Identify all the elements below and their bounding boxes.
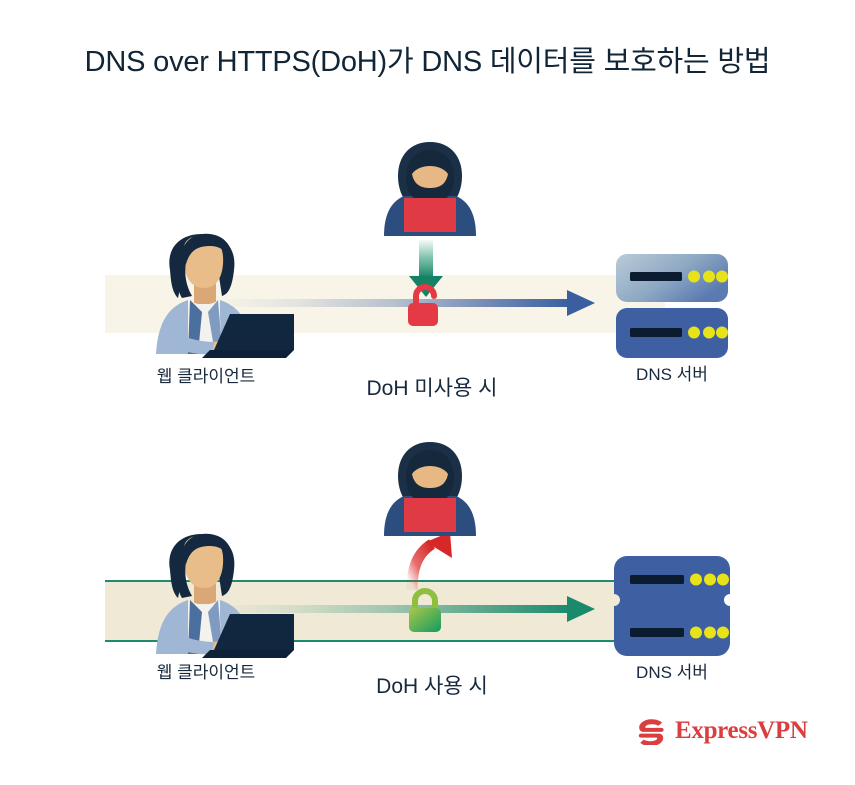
hacker-figure [382, 140, 478, 240]
arrow-head [567, 290, 595, 316]
label-scene-with-doh: DoH 사용 시 [282, 670, 582, 700]
label-scene-without-doh: DoH 미사용 시 [282, 372, 582, 402]
web-client-figure [118, 530, 294, 658]
unlocked-padlock-icon [404, 282, 446, 330]
scene-with-doh: 웹 클라이언트 DNS 서버 DoH 사용 시 [0, 430, 855, 710]
web-client-figure [118, 230, 294, 358]
hacker-figure [382, 440, 478, 540]
page-title: DNS over HTTPS(DoH)가 DNS 데이터를 보호하는 방법 [0, 38, 855, 80]
expressvpn-mark-icon [636, 715, 666, 745]
label-dns-server: DNS 서버 [562, 658, 782, 683]
dns-server-icon [612, 554, 732, 658]
scene-without-doh: 웹 클라이언트 DNS 서버 DoH 미사용 시 [0, 130, 855, 410]
arrow-head [567, 596, 595, 622]
expressvpn-wordmark: ExpressVPN [675, 718, 808, 743]
locked-padlock-icon [404, 586, 446, 634]
label-dns-server: DNS 서버 [562, 360, 782, 385]
expressvpn-logo: ExpressVPN [636, 713, 808, 747]
dns-server-icon [612, 252, 732, 360]
